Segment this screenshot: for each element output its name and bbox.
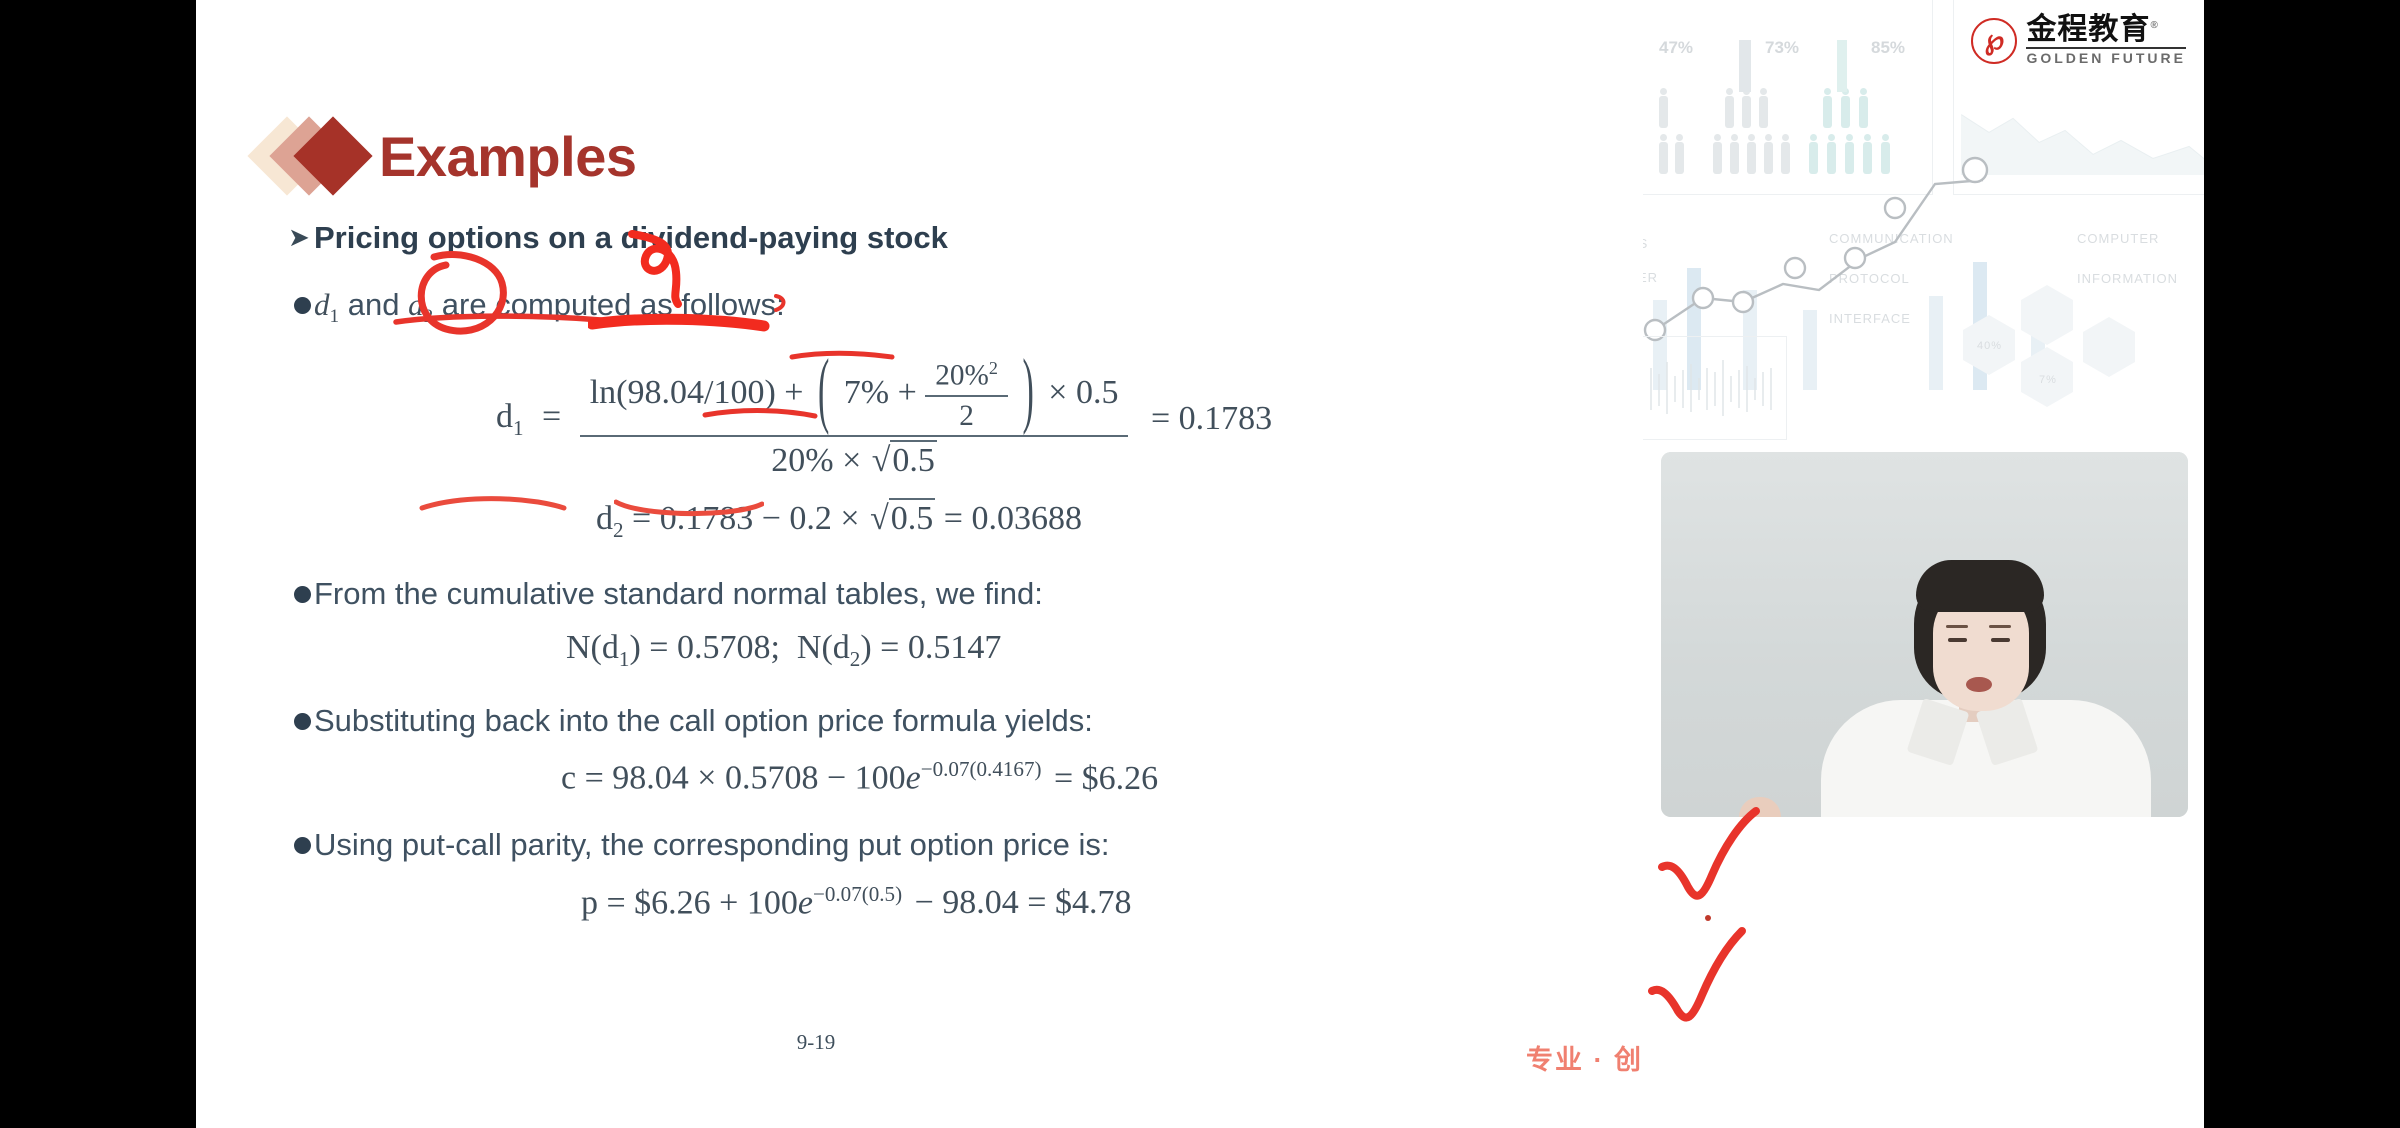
bg-percent-2: 73% bbox=[1765, 38, 1799, 58]
presenter-mouth bbox=[1966, 677, 1992, 692]
screen-root: Examples ➤ Pricing options on a dividend… bbox=[0, 0, 2400, 1128]
bullet-row-pricing: ➤ Pricing options on a dividend-paying s… bbox=[196, 218, 1796, 258]
presenter-brow-left bbox=[1946, 625, 1968, 628]
bullet-text-normal-tables: From the cumulative standard normal tabl… bbox=[314, 576, 1043, 611]
presenter-video[interactable] bbox=[1661, 452, 2188, 817]
brand-logo: 金程教育® GOLDEN FUTURE bbox=[1971, 15, 2186, 66]
presenter-brow-right bbox=[1989, 625, 2011, 628]
seal-icon bbox=[1971, 18, 2017, 64]
formula-put-price: p = $6.26 + 100e−0.07(0.5) − 98.04 = $4.… bbox=[196, 882, 1796, 922]
bullet-row-normal-tables: From the cumulative standard normal tabl… bbox=[196, 573, 1796, 615]
dot-bullet-icon bbox=[294, 837, 311, 854]
bullet-text-d-computed: d1 and d2 are computed as follows: bbox=[314, 287, 785, 322]
right-side-panel: 47% 73% 85% bbox=[1643, 0, 2204, 1128]
formula-call-price: c = 98.04 × 0.5708 − 100e−0.07(0.4167) =… bbox=[196, 757, 1796, 797]
dot-bullet-icon bbox=[294, 586, 311, 603]
formula-d1: d1 = ln(98.04/100) + ( 7% + 20%2 2 ) × 0… bbox=[196, 358, 1796, 480]
page-title: Examples bbox=[379, 124, 637, 189]
dot-bullet-icon bbox=[294, 297, 311, 314]
formula-d2: d2 = 0.1783 − 0.2 × √0.5 = 0.03688 bbox=[196, 498, 1796, 543]
letterbox-left bbox=[0, 0, 196, 1128]
bullet-text-put-call-parity: Using put-call parity, the corresponding… bbox=[314, 827, 1110, 862]
nd2-value: 0.5147 bbox=[908, 629, 1002, 666]
page-number: 9-19 bbox=[196, 1030, 1436, 1055]
logo-english-name: GOLDEN FUTURE bbox=[2026, 47, 2186, 66]
d1-result: 0.1783 bbox=[1179, 400, 1273, 437]
slide-body: ➤ Pricing options on a dividend-paying s… bbox=[196, 218, 1796, 922]
slide-title-block: Examples bbox=[259, 118, 637, 194]
d2-result: 0.03688 bbox=[971, 500, 1082, 537]
paren-close: ) bbox=[1022, 344, 1033, 439]
bg-percent-1: 47% bbox=[1659, 38, 1693, 58]
formula-nd-values: N(d1) = 0.5708; N(d2) = 0.5147 bbox=[196, 629, 1796, 672]
bullet-text-substituting: Substituting back into the call option p… bbox=[314, 703, 1093, 738]
bg-hex-label-1: 40% bbox=[1977, 340, 2002, 352]
logo-chinese-name: 金程教育® bbox=[2026, 15, 2186, 45]
letterbox-right bbox=[2204, 0, 2400, 1128]
diamond-bullet-icon bbox=[259, 118, 371, 194]
paren-open: ( bbox=[818, 344, 829, 439]
dot-bullet-icon bbox=[294, 713, 311, 730]
bullet-row-substituting: Substituting back into the call option p… bbox=[196, 700, 1796, 742]
presenter-eye-right bbox=[1991, 638, 2010, 642]
presenter-eye-left bbox=[1948, 638, 1967, 642]
bullet-row-d-computed: d1 and d2 are computed as follows: bbox=[196, 284, 1796, 330]
nd1-value: 0.5708; bbox=[677, 629, 780, 666]
bg-hex-label-2: 7% bbox=[2039, 374, 2057, 386]
bullet-text-pricing: Pricing options on a dividend-paying sto… bbox=[314, 220, 948, 255]
bg-percent-3: 85% bbox=[1871, 38, 1905, 58]
registered-mark: ® bbox=[2150, 20, 2158, 31]
bullet-row-put-call-parity: Using put-call parity, the corresponding… bbox=[196, 824, 1796, 866]
presenter-fringe bbox=[1916, 560, 2044, 612]
arrow-bullet-icon: ➤ bbox=[288, 222, 310, 253]
